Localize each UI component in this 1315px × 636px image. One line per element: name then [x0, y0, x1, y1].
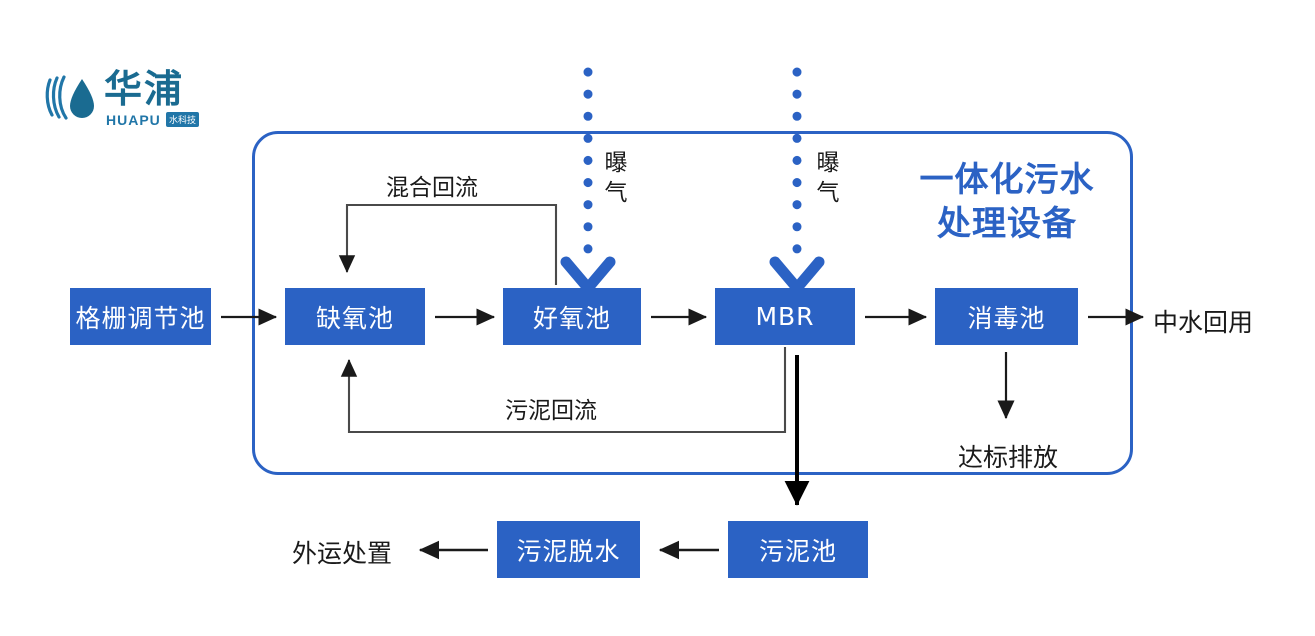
system-title-line1: 一体化污水 — [912, 158, 1102, 202]
label-offsite-disposal: 外运处置 — [292, 534, 392, 570]
label-standard-discharge: 达标排放 — [958, 438, 1058, 474]
node-sludge-tank[interactable]: 污泥池 — [728, 521, 868, 578]
node-grille-regulating-tank[interactable]: 格栅调节池 — [70, 288, 211, 345]
water-drop-waves-icon — [44, 72, 102, 122]
label-sludge-return: 污泥回流 — [505, 391, 597, 425]
label-aeration-2: 曝气 — [816, 148, 840, 208]
system-title-line2: 处理设备 — [912, 202, 1102, 246]
node-aerobic-tank[interactable]: 好氧池 — [503, 288, 641, 345]
node-sludge-dewatering[interactable]: 污泥脱水 — [497, 521, 640, 578]
node-anoxic-tank[interactable]: 缺氧池 — [285, 288, 425, 345]
logo-wordmark: 华浦 — [104, 68, 184, 110]
company-logo: 华浦 HUAPU 水科技 — [44, 68, 209, 134]
label-mixed-liquor-return: 混合回流 — [386, 168, 478, 202]
label-reclaimed-water-reuse: 中水回用 — [1153, 303, 1253, 339]
diagram-canvas: 华浦 HUAPU 水科技 一体化污水 处理设备 — [0, 0, 1315, 636]
logo-badge: 水科技 — [166, 112, 199, 127]
logo-latin-text: HUAPU — [106, 112, 161, 128]
system-title: 一体化污水 处理设备 — [912, 158, 1102, 246]
node-mbr[interactable]: MBR — [715, 288, 855, 345]
label-aeration-1: 曝气 — [604, 148, 628, 208]
node-disinfection-tank[interactable]: 消毒池 — [935, 288, 1078, 345]
